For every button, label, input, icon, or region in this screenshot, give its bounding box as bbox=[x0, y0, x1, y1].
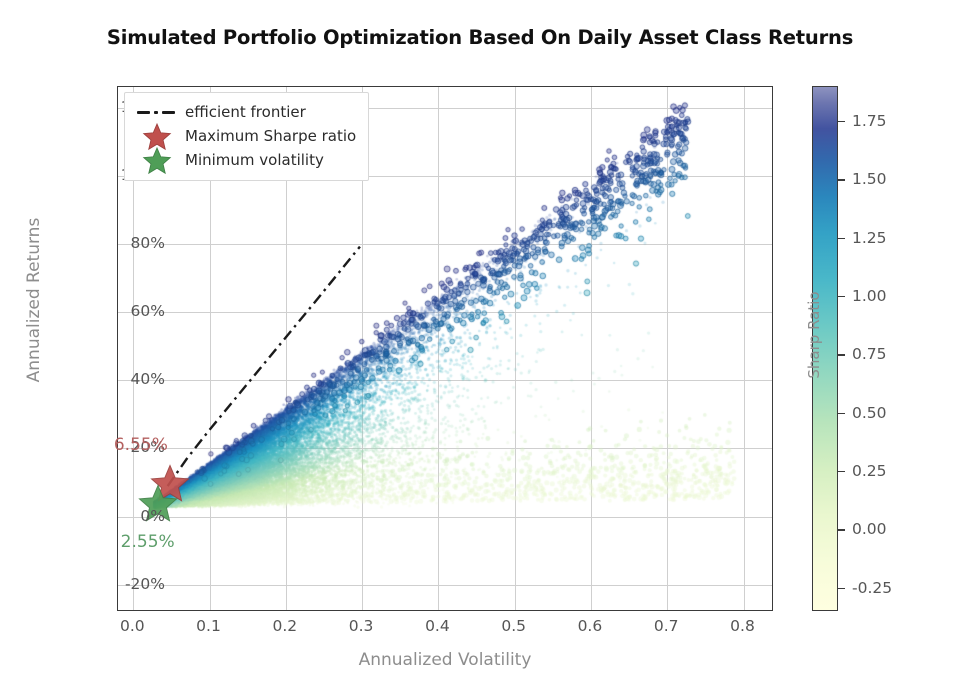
y-axis-tick-label: 80% bbox=[85, 234, 165, 252]
legend-label-max-sharpe: Maximum Sharpe ratio bbox=[185, 127, 356, 145]
chart-title: Simulated Portfolio Optimization Based O… bbox=[0, 26, 960, 49]
colorbar-tick bbox=[838, 179, 845, 180]
chart-legend: efficient frontier Maximum Sharpe ratio … bbox=[124, 92, 369, 181]
colorbar-tick-label: 1.75 bbox=[852, 112, 887, 130]
y-axis-tick-label: 60% bbox=[85, 302, 165, 320]
colorbar-tick-label: 0.00 bbox=[852, 520, 887, 538]
x-axis-label: Annualized Volatility bbox=[117, 650, 773, 670]
dashdot-line-icon bbox=[135, 111, 179, 114]
x-axis-tick-label: 0.0 bbox=[92, 617, 172, 635]
chart-root: Simulated Portfolio Optimization Based O… bbox=[0, 0, 960, 686]
x-axis-tick-label: 0.5 bbox=[474, 617, 554, 635]
y-axis-tick-label: 40% bbox=[85, 370, 165, 388]
max-sharpe-annotation: 6.55% bbox=[114, 435, 168, 455]
colorbar-tick-label: 1.25 bbox=[852, 229, 887, 247]
x-axis-tick-label: 0.4 bbox=[397, 617, 477, 635]
legend-item-min-volatility: Minimum volatility bbox=[135, 148, 356, 172]
legend-item-max-sharpe: Maximum Sharpe ratio bbox=[135, 124, 356, 148]
legend-item-efficient-frontier: efficient frontier bbox=[135, 100, 356, 124]
green-star-icon bbox=[135, 146, 179, 175]
colorbar-tick bbox=[838, 529, 845, 530]
x-axis-tick-label: 0.8 bbox=[703, 617, 783, 635]
y-axis-label: Annualized Returns bbox=[24, 190, 44, 410]
efficient-frontier-path bbox=[168, 247, 360, 486]
y-axis-tick-label: -20% bbox=[85, 575, 165, 593]
colorbar-tick bbox=[838, 238, 845, 239]
colorbar-tick-label: 1.50 bbox=[852, 170, 887, 188]
x-axis-tick-label: 0.6 bbox=[550, 617, 630, 635]
x-axis-tick-label: 0.1 bbox=[169, 617, 249, 635]
y-axis-tick-label: 0% bbox=[85, 507, 165, 525]
colorbar-label: Sharp Ratio bbox=[805, 165, 823, 505]
colorbar-tick-label: 0.50 bbox=[852, 404, 887, 422]
colorbar-tick bbox=[838, 296, 845, 297]
colorbar: -0.250.000.250.500.751.001.251.501.75 Sh… bbox=[812, 86, 838, 611]
colorbar-tick bbox=[838, 354, 845, 355]
x-axis-tick-label: 0.7 bbox=[626, 617, 706, 635]
colorbar-tick bbox=[838, 121, 845, 122]
colorbar-tick-label: -0.25 bbox=[852, 579, 892, 597]
colorbar-tick-label: 0.75 bbox=[852, 345, 887, 363]
colorbar-tick-label: 1.00 bbox=[852, 287, 887, 305]
colorbar-tick bbox=[838, 413, 845, 414]
legend-label-efficient-frontier: efficient frontier bbox=[185, 103, 306, 121]
legend-label-min-volatility: Minimum volatility bbox=[185, 151, 324, 169]
colorbar-tick bbox=[838, 471, 845, 472]
colorbar-tick bbox=[838, 588, 845, 589]
x-axis-tick-label: 0.3 bbox=[321, 617, 401, 635]
colorbar-tick-label: 0.25 bbox=[852, 462, 887, 480]
min-vol-annotation: 2.55% bbox=[121, 532, 175, 552]
x-axis-tick-label: 0.2 bbox=[245, 617, 325, 635]
